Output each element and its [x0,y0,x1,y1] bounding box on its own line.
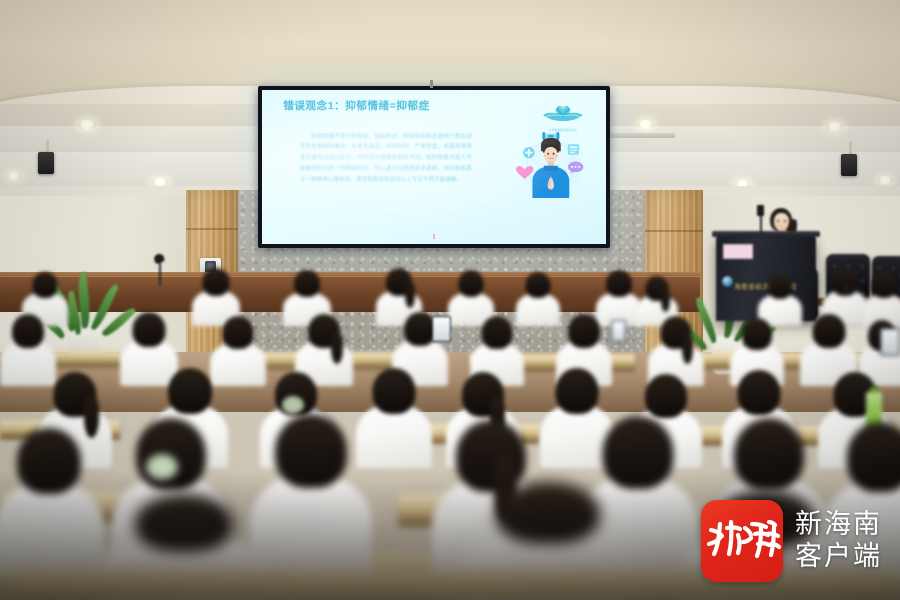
podium-mic-neck [760,213,762,233]
slide-body-paragraph: 抑郁情绪不等于抑郁症，如前所述，抑郁和抑郁症是两个相关却不完全相同的概念，从有无… [300,132,472,187]
ceiling-downlight [877,176,893,184]
podium-name-plate [723,244,753,259]
wall-speaker-right [841,154,857,176]
ceiling-downlight [78,120,96,130]
wall-speaker-left [38,152,54,174]
slide-body-text: 抑郁情绪不等于抑郁症，如前所述，抑郁和抑郁症是两个相关却不完全相同的概念，从有无… [300,132,472,187]
mobile-phone[interactable] [880,328,900,356]
slide-page-marker [433,234,435,239]
screen-hanger [430,80,433,88]
watermark-logo [701,500,783,582]
xinhainan-calligraphy-icon [701,500,783,582]
screenshot-root: 错误观念1：抑郁情绪=抑郁症 抑郁情绪不等于抑郁症，如前所述，抑郁和抑郁症是两个… [0,0,900,600]
mobile-phone[interactable] [611,320,626,342]
projection-screen: 错误观念1：抑郁情绪=抑郁症 抑郁情绪不等于抑郁症，如前所述，抑郁和抑郁症是两个… [258,86,610,248]
presenter-eye [784,220,786,222]
watermark-line-2: 客户端 [795,541,882,573]
ceiling-downlight [6,172,21,180]
heart-in-hands-icon [541,98,585,122]
mobile-phone[interactable] [432,316,451,342]
slide-surface: 错误观念1：抑郁情绪=抑郁症 抑郁情绪不等于抑郁症，如前所述，抑郁和抑郁症是两个… [262,90,606,244]
watermark-line-1: 新海南 [795,509,882,541]
ceiling-downlight [637,120,654,129]
watermark-brand: 新海南 客户端 [795,509,882,573]
meditating-person-illustration [513,130,589,201]
medical-cross-icon [523,147,534,158]
notepad-icon [568,144,579,155]
podium-microphone [757,205,764,216]
ceiling-downlight [826,122,843,131]
mic-head-icon [153,252,166,264]
ceiling-downlight [152,178,168,186]
slide-logo: 心理健康教育指导中心 [541,98,586,132]
watermark: 新海南 客户端 [701,500,882,582]
slide-title: 错误观念1：抑郁情绪=抑郁症 [283,98,429,113]
presenter-eye [777,220,779,222]
